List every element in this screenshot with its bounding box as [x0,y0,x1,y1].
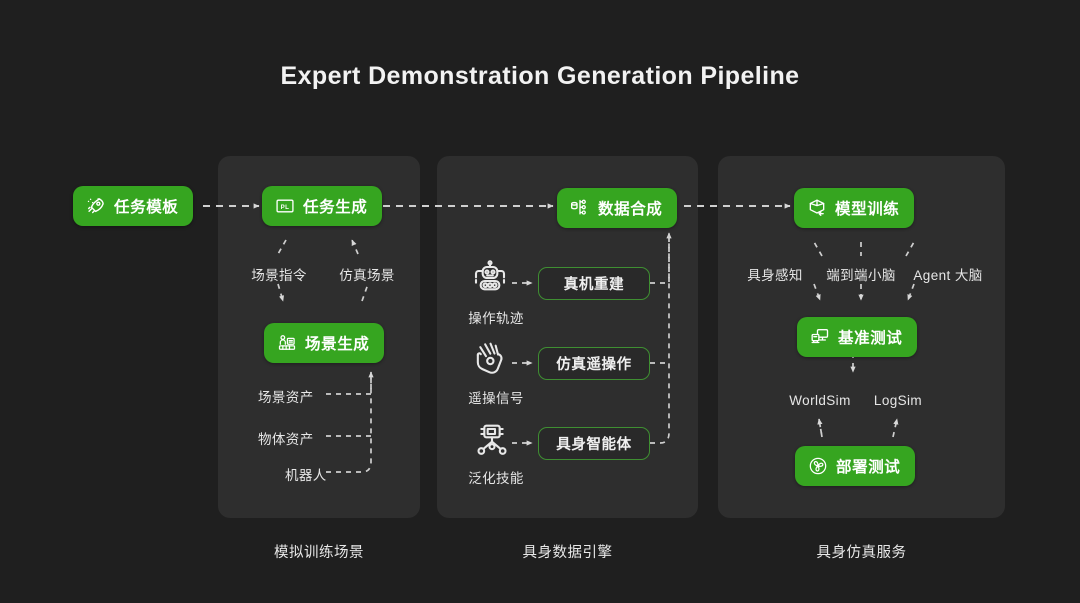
label-generalization-skill: 泛化技能 [468,467,524,487]
scene-robot-icon [277,333,297,353]
monitor-icon [810,327,830,347]
fan-circle-icon [808,456,828,476]
input-robot: 机器人 [285,464,327,484]
caption-embodied-sim-service: 具身仿真服务 [718,541,1005,562]
box-simulated-teleoperation[interactable]: 仿真遥操作 [538,347,650,380]
label-logsim: LogSim [874,393,922,408]
pl-frame-icon: PL [275,196,295,216]
label-worldsim: WorldSim [789,393,850,408]
box-real-machine-reconstruction[interactable]: 真机重建 [538,267,650,300]
task-generation-button[interactable]: PL 任务生成 [262,186,382,226]
benchmark-test-label: 基准测试 [838,326,902,348]
data-synthesis-label: 数据合成 [598,197,662,219]
glove-icon [470,340,510,380]
scene-generation-label: 场景生成 [305,332,369,354]
model-training-button[interactable]: 模型训练 [794,188,914,228]
label-teleop-signal: 遥操信号 [468,387,524,407]
network-icon [472,420,512,460]
model-training-label: 模型训练 [835,197,899,219]
page-title: Expert Demonstration Generation Pipeline [0,62,1080,91]
input-object-assets: 物体资产 [258,428,314,448]
task-generation-label: 任务生成 [303,195,367,217]
label-end-to-end-cerebellum: 端到端小脑 [826,264,896,284]
box-embodied-agent[interactable]: 具身智能体 [538,427,650,460]
deployment-test-button[interactable]: 部署测试 [795,446,915,486]
label-agent-brain: Agent 大脑 [913,264,982,284]
input-scene-assets: 场景资产 [258,386,314,406]
robot-icon [470,260,510,300]
label-scene-instruction: 场景指令 [251,264,307,284]
entry-task-template-button[interactable]: 任务模板 [73,186,193,226]
data-merge-icon [570,198,590,218]
benchmark-test-button[interactable]: 基准测试 [797,317,917,357]
rocket-icon [86,196,106,216]
scene-generation-button[interactable]: 场景生成 [264,323,384,363]
label-sim-scene: 仿真场景 [339,264,395,284]
label-embodied-perception: 具身感知 [747,264,803,284]
entry-task-template-label: 任务模板 [114,195,178,217]
data-synthesis-button[interactable]: 数据合成 [557,188,677,228]
svg-text:PL: PL [281,204,290,211]
label-operation-trajectory: 操作轨迹 [468,307,524,327]
caption-embodied-data-engine: 具身数据引擎 [437,541,698,562]
pipeline-diagram: Expert Demonstration Generation Pipeline [0,0,1080,603]
cube-arrow-icon [807,198,827,218]
caption-sim-training-scene: 模拟训练场景 [218,541,420,562]
deployment-test-label: 部署测试 [836,455,900,477]
